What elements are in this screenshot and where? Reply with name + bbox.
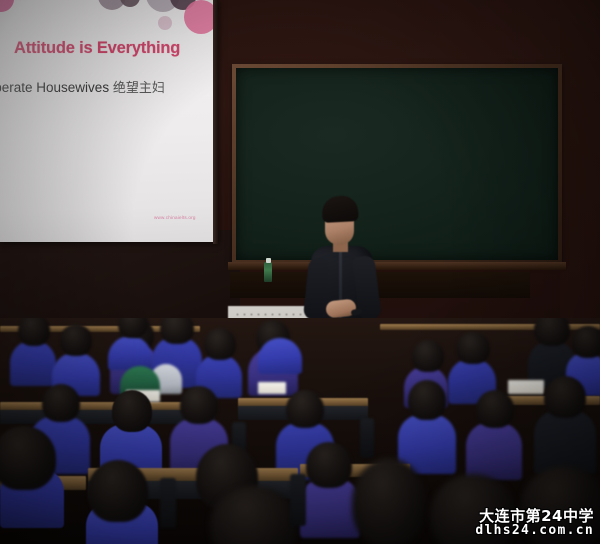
water-bottle bbox=[264, 262, 272, 282]
blackboard-surface bbox=[236, 68, 558, 260]
slide-subtitle-chinese: 绝望主妇 bbox=[113, 80, 165, 95]
student-head bbox=[544, 376, 586, 418]
student-head-foreground bbox=[88, 460, 148, 522]
slide-circle-small-accent bbox=[158, 16, 172, 30]
projection-screen: Attitude is Everything esperate Housewiv… bbox=[0, 0, 217, 242]
student-head bbox=[534, 318, 570, 346]
slide-subtitle: esperate Housewives 绝望主妇 bbox=[0, 77, 210, 96]
student-head bbox=[180, 386, 218, 424]
presenter-hair bbox=[321, 195, 358, 223]
student-head bbox=[456, 332, 490, 364]
chair-back bbox=[360, 418, 374, 458]
classroom-photo: Attitude is Everything esperate Housewiv… bbox=[0, 0, 600, 544]
slide-url: www.chinaielts.org bbox=[154, 215, 196, 220]
watermark-school-name: 大连市第24中学 bbox=[475, 508, 594, 525]
chair-back bbox=[290, 474, 306, 526]
slide-circle-dark-plum bbox=[120, 0, 140, 7]
notebook-page bbox=[258, 382, 286, 394]
student-uniform bbox=[466, 422, 522, 480]
student-head bbox=[476, 390, 514, 428]
chair-back bbox=[160, 478, 176, 528]
student-head bbox=[204, 328, 236, 360]
student-uniform bbox=[10, 340, 56, 386]
projection-screen-edge bbox=[213, 0, 218, 244]
watermark: 大连市第24中学 dlhs24.com.cn bbox=[475, 508, 594, 539]
slide-circle-pink-topleft bbox=[0, 0, 14, 12]
student-head-foreground bbox=[0, 426, 56, 490]
wall-right-panel bbox=[560, 0, 600, 360]
student-head-foreground bbox=[352, 458, 426, 544]
watermark-website: dlhs24.com.cn bbox=[475, 524, 594, 539]
student-head bbox=[306, 442, 352, 488]
student-head bbox=[60, 324, 92, 356]
student-head bbox=[286, 390, 324, 428]
student-head bbox=[572, 326, 600, 358]
slide-subtitle-english: esperate Housewives bbox=[0, 80, 109, 95]
student-uniform bbox=[258, 338, 302, 374]
student-head bbox=[18, 318, 50, 346]
notebook-page bbox=[508, 380, 544, 394]
student-head bbox=[160, 318, 194, 344]
water-bottle-cap bbox=[266, 258, 271, 263]
slide-title: Attitude is Everything bbox=[14, 39, 204, 58]
student-head bbox=[408, 380, 446, 420]
blackboard-chalk-ledge bbox=[228, 262, 566, 270]
blackboard bbox=[232, 64, 562, 264]
student-uniform-dark bbox=[534, 410, 596, 474]
student-head bbox=[412, 340, 444, 372]
student-head bbox=[118, 318, 148, 338]
student-head bbox=[112, 390, 152, 432]
student-head bbox=[42, 384, 80, 422]
